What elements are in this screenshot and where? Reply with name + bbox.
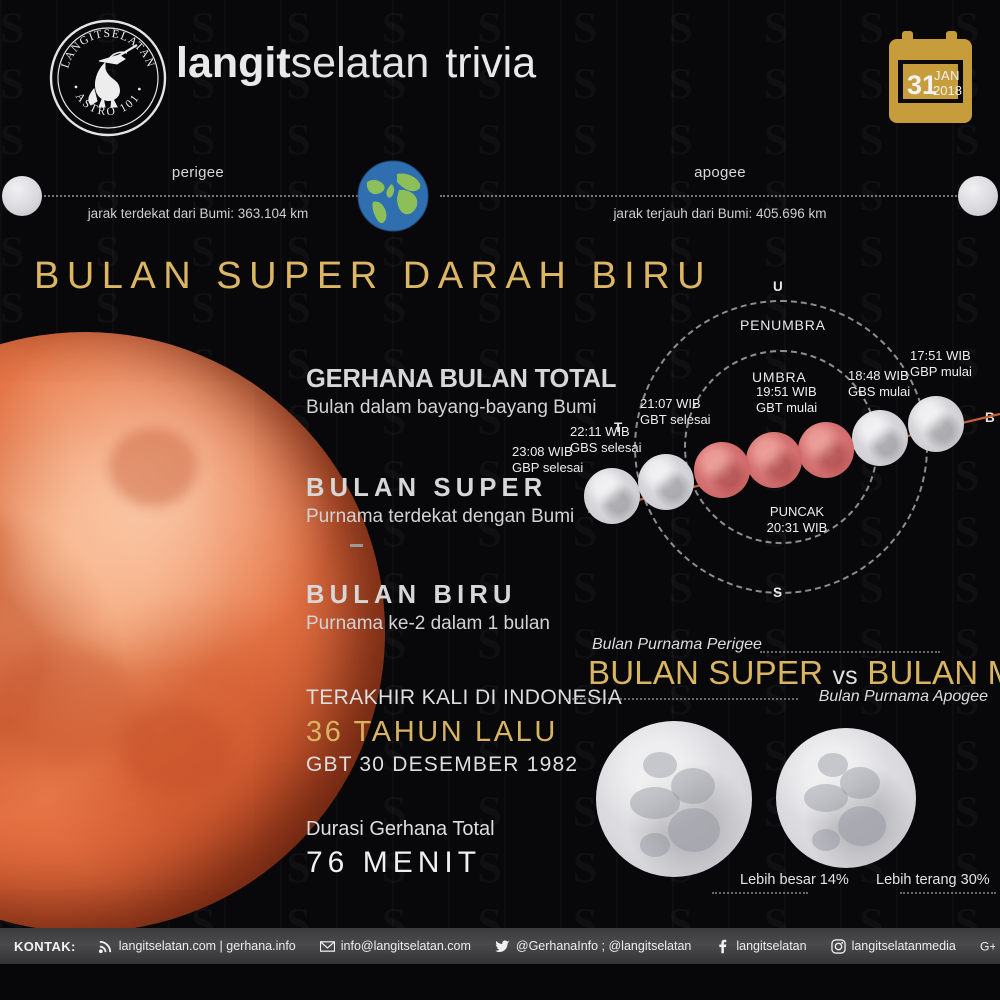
footer-item-text: langitselatan: [736, 939, 806, 953]
footer-item-text: langitselatanmedia: [852, 939, 956, 953]
phase-time: 21:07 WIB: [640, 396, 701, 411]
calendar-year: 2018: [933, 83, 962, 98]
peak-time: 20:31 WIB: [767, 520, 828, 535]
footer-item-facebook[interactable]: langitselatan: [715, 939, 806, 954]
twitter-icon: [495, 939, 510, 954]
header: LANGITSELATAN • ASTRO 101 • langitselata…: [0, 0, 1000, 148]
eclipse-moon-gbp-selesai: [584, 468, 640, 524]
duration-value: 76 MENIT: [306, 846, 495, 880]
footer-item-text: info@langitselatan.com: [341, 939, 471, 953]
caption-rule-left: [712, 892, 808, 894]
svg-text:LANGITSELATAN: LANGITSELATAN: [59, 28, 156, 70]
earth-globe-icon: [357, 160, 429, 232]
calendar-date-icon: 31 JAN 2018: [884, 30, 977, 128]
footer-item-website[interactable]: langitselatan.com | gerhana.info: [98, 939, 296, 954]
compare-title-left: BULAN SUPER: [588, 654, 823, 691]
kontak-label: KONTAK:: [14, 939, 76, 954]
phase-time: 19:51 WIB: [756, 384, 817, 399]
compare-title: BULAN SUPER vs BULAN MINI: [588, 654, 1000, 692]
fact-block-bulan-super: BULAN SUPER Purnama terdekat dengan Bumi: [306, 474, 574, 528]
envelope-icon: [320, 939, 335, 954]
compare-top-label: Bulan Purnama Perigee: [592, 636, 762, 654]
phase-label-gbt-mulai: 19:51 WIB GBT mulai: [756, 384, 817, 416]
perigee-apogee-band: perigee jarak terdekat dari Bumi: 363.10…: [0, 150, 1000, 242]
infographic-root: S S S S S S S S S S S S S S S S S S S S …: [0, 0, 1000, 1000]
facebook-icon: [715, 939, 730, 954]
phase-label-gbs-mulai: 18:48 WIB GBS mulai: [848, 368, 910, 400]
googleplus-icon: G+: [980, 939, 995, 954]
eclipse-moon-puncak: [746, 432, 802, 488]
footer-item-email[interactable]: info@langitselatan.com: [320, 939, 471, 954]
supermoon-disc: [596, 721, 752, 877]
phase-label-gbt-selesai: 21:07 WIB GBT selesai: [640, 396, 711, 428]
perigee-detail: jarak terdekat dari Bumi: 363.104 km: [48, 206, 348, 221]
supermoon-vs-minimoon-panel: Bulan Purnama Perigee BULAN SUPER vs BUL…: [560, 626, 1000, 916]
caption-rule-right: [900, 892, 996, 894]
brand-part-selatan: selatan: [291, 39, 430, 87]
svg-text:G+: G+: [980, 939, 995, 953]
brand-title: langitselatantrivia: [176, 38, 536, 88]
brand-part-trivia: trivia: [445, 39, 536, 87]
compare-bottom-label: Bulan Purnama Apogee: [819, 688, 988, 706]
peak-label: PUNCAK 20:31 WIB: [752, 504, 842, 536]
phase-time: 17:51 WIB: [910, 348, 971, 363]
perigee-moon-icon: [2, 176, 42, 216]
phase-event: GBP mulai: [910, 364, 972, 379]
compare-bottom-rule: [564, 698, 798, 700]
phase-label-gbp-mulai: 17:51 WIB GBP mulai: [910, 348, 972, 380]
apogee-moon-icon: [958, 176, 998, 216]
calendar-month: JAN: [934, 68, 960, 83]
instagram-icon: [831, 939, 846, 954]
eclipse-moon-gbt-mulai: [798, 422, 854, 478]
phase-time: 23:08 WIB: [512, 444, 573, 459]
phase-event: GBS mulai: [848, 384, 910, 399]
compare-top-rule: [760, 651, 940, 653]
phase-event: GBP selesai: [512, 460, 583, 475]
eclipse-path-diagram: U S T B PENUMBRA UMBRA 17:51 WIB GBP mul…: [560, 272, 1000, 622]
phase-time: 18:48 WIB: [848, 368, 909, 383]
apogee-detail: jarak terjauh dari Bumi: 405.696 km: [570, 206, 870, 221]
caption-brighter: Lebih terang 30%: [876, 872, 990, 888]
duration-label: Durasi Gerhana Total: [306, 818, 495, 841]
caption-bigger: Lebih besar 14%: [740, 872, 849, 888]
eclipse-moon-gbs-selesai: [638, 454, 694, 510]
langitselatan-logo-icon: LANGITSELATAN • ASTRO 101 •: [47, 17, 169, 139]
fact-sub: Purnama terdekat dengan Bumi: [306, 506, 574, 528]
footer-item-text: langitselatan.com | gerhana.info: [119, 939, 296, 953]
eclipse-moon-gbp-mulai: [908, 396, 964, 452]
footer-item-googleplus[interactable]: G+ LangitselatanMedia: [980, 939, 1000, 954]
compare-title-vs: vs: [832, 662, 857, 690]
fact-heading: BULAN SUPER: [306, 474, 574, 503]
phase-time: 22:11 WIB: [570, 424, 630, 439]
footer-item-twitter[interactable]: @GerhanaInfo ; @langitselatan: [495, 939, 691, 954]
fact-heading: BULAN BIRU: [306, 581, 550, 610]
duration-block: Durasi Gerhana Total 76 MENIT: [306, 818, 495, 880]
section-divider-dash: [350, 544, 363, 547]
phase-label-gbp-selesai: 23:08 WIB GBP selesai: [512, 444, 583, 476]
fact-block-bulan-biru: BULAN BIRU Purnama ke-2 dalam 1 bulan: [306, 581, 550, 635]
apogee-label: apogee: [620, 164, 820, 181]
footer-item-instagram[interactable]: langitselatanmedia: [831, 939, 956, 954]
phase-event: GBT mulai: [756, 400, 817, 415]
peak-text: PUNCAK: [770, 504, 824, 519]
perigee-dotted-line: [40, 195, 358, 197]
brand-part-langit: langit: [176, 39, 291, 87]
footer-item-text: @GerhanaInfo ; @langitselatan: [516, 939, 691, 953]
eclipse-moon-gbt-selesai: [694, 442, 750, 498]
perigee-label: perigee: [98, 164, 298, 181]
phase-event: GBT selesai: [640, 412, 711, 427]
fact-sub: Purnama ke-2 dalam 1 bulan: [306, 613, 550, 635]
minimoon-disc: [776, 728, 916, 868]
apogee-dotted-line: [440, 195, 960, 197]
footer-contact-bar: KONTAK: langitselatan.com | gerhana.info…: [0, 928, 1000, 964]
rss-icon: [98, 939, 113, 954]
eclipse-moon-gbs-mulai: [852, 410, 908, 466]
compare-title-right: BULAN MINI: [867, 654, 1000, 691]
footer-bottom-strip: [0, 964, 1000, 1000]
